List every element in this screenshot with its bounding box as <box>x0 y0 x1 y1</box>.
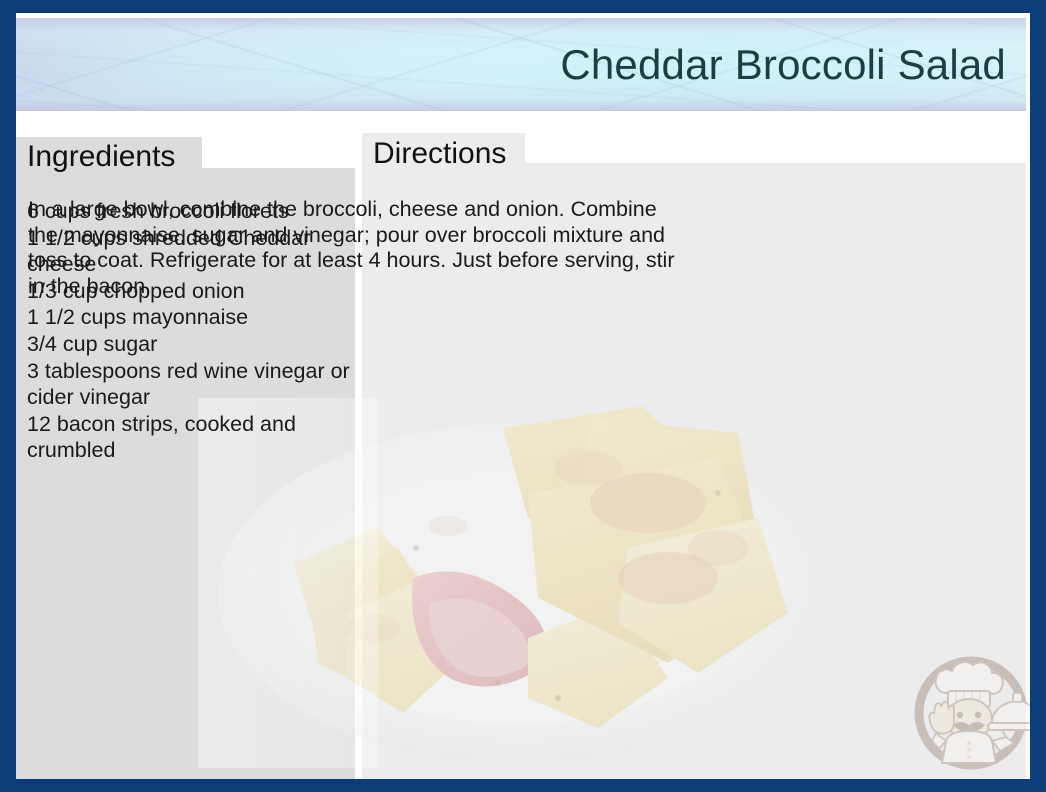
directions-heading: Directions <box>362 139 506 169</box>
page-title: Cheddar Broccoli Salad <box>560 44 1006 86</box>
ingredients-heading: Ingredients <box>16 142 175 172</box>
directions-heading-tab: Directions <box>362 133 525 175</box>
directions-text: In a large bowl, combine the broccoli, c… <box>28 197 678 299</box>
title-banner: Cheddar Broccoli Salad <box>16 18 1026 111</box>
ingredients-heading-tab: Ingredients <box>16 137 202 177</box>
recipe-card: Cheddar Broccoli Salad Ingredients Direc… <box>16 13 1030 779</box>
recipe-slide: Cheddar Broccoli Salad Ingredients Direc… <box>0 0 1046 792</box>
